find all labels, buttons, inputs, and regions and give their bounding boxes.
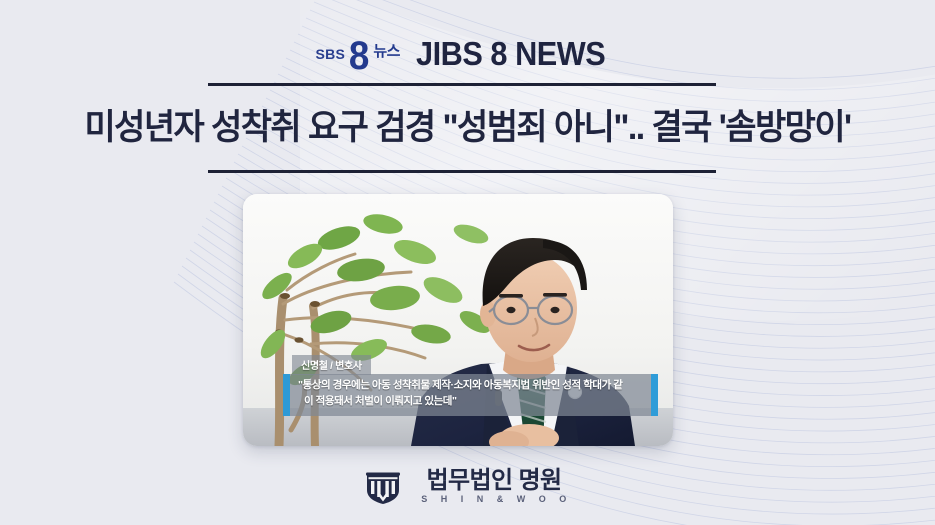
law-firm-brand: 법무법인 명원 S H I N & W O O (0, 458, 935, 514)
firm-name-korean: 법무법인 명원 (427, 469, 562, 493)
caption-quote-line-2: 이 적용돼서 처벌이 이뤄지고 있는데" (298, 393, 645, 409)
program-title: JIBS 8 NEWS (416, 35, 605, 73)
headline-text: 미성년자 성착취 요구 검경 "성범죄 아니".. 결국 '솜방망이' (14, 99, 921, 150)
caption-accent-bar-left (283, 374, 290, 416)
sbs-8-news-logo: SBS 8 뉴스 (315, 37, 400, 71)
caption-speaker-name: 신명철 / 변호사 (292, 355, 371, 375)
sbs-eight-glyph: 8 (349, 39, 369, 73)
brand-text-block: 법무법인 명원 S H I N & W O O (416, 469, 572, 504)
divider-below-headline (208, 170, 716, 173)
divider-above-headline (208, 83, 716, 86)
shield-pillar-icon (363, 466, 403, 506)
caption-quote-line-1: "통상의 경우에는 아동 성착취물 제작·소지와 아동복지법 위반인 성적 학대… (298, 377, 645, 393)
news-card-stage: SBS 8 뉴스 JIBS 8 NEWS 미성년자 성착취 요구 검경 "성범죄… (0, 0, 935, 525)
sbs-news-korean-text: 뉴스 (373, 40, 400, 61)
caption-quote-text: "통상의 경우에는 아동 성착취물 제작·소지와 아동복지법 위반인 성적 학대… (290, 374, 651, 416)
channel-logo-row: SBS 8 뉴스 JIBS 8 NEWS (0, 32, 935, 76)
sbs-logo-text: SBS (315, 46, 345, 62)
news-photo-card: 신명철 / 변호사 "통상의 경우에는 아동 성착취물 제작·소지와 아동복지법… (243, 194, 673, 446)
caption-accent-bar-right (651, 374, 658, 416)
caption-quote-block: "통상의 경우에는 아동 성착취물 제작·소지와 아동복지법 위반인 성적 학대… (283, 374, 658, 416)
firm-name-english: S H I N & W O O (416, 495, 572, 504)
